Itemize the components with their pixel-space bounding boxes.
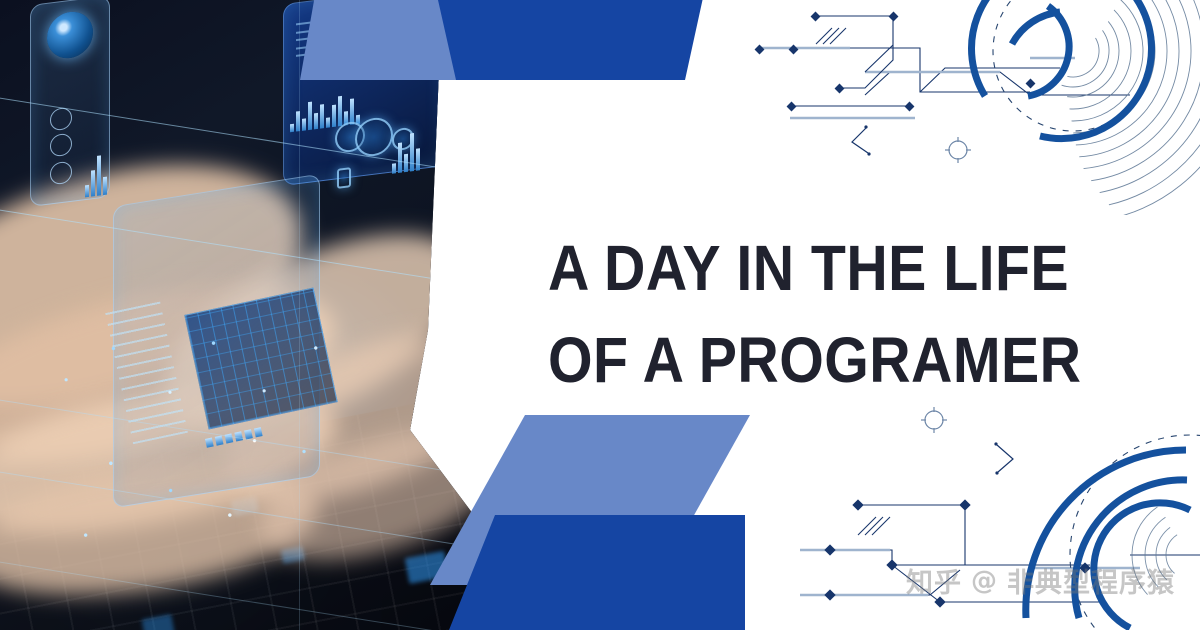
watermark-handle: 非典型程序猿	[1007, 561, 1175, 600]
watermark-at-symbol: @	[971, 566, 998, 596]
diamond-node	[824, 589, 835, 600]
poster-canvas: A DAY IN THE LIFE OF A PROGRAMER	[0, 0, 1200, 630]
diamond-node	[787, 102, 797, 112]
concentric-rings	[1108, 473, 1200, 630]
watermark: 知乎 @ 非典型程序猿	[906, 561, 1175, 600]
hud-indicator	[337, 167, 351, 189]
concentric-rings	[840, 0, 1200, 215]
chevron-left-icon	[852, 128, 868, 153]
hud-bar-chart	[85, 151, 107, 198]
geo-shape-top-dark	[420, 0, 720, 80]
dashed-circle	[1070, 435, 1200, 630]
dashed-circle	[993, 0, 1153, 131]
bold-arc	[972, 0, 1152, 139]
hud-bar-chart	[392, 130, 420, 173]
circuit-trace	[758, 48, 1030, 92]
watermark-platform: 知乎	[906, 561, 962, 600]
target-crosshair-icon	[921, 407, 947, 433]
diamond-node	[835, 84, 845, 94]
circuit-trace	[865, 72, 1030, 95]
bold-arc	[1028, 6, 1069, 96]
decoration-top-right	[730, 0, 1200, 215]
diamond-node	[959, 499, 970, 510]
slash-hatch-icon	[816, 28, 846, 44]
title-line-2: OF A PROGRAMER	[548, 314, 1103, 406]
diamond-node	[889, 12, 899, 22]
circuit-node-group	[755, 12, 1036, 112]
poster-title: A DAY IN THE LIFE OF A PROGRAMER	[548, 222, 1168, 406]
diamond-node	[886, 559, 897, 570]
diamond-node	[755, 45, 765, 55]
title-line-1: A DAY IN THE LIFE	[548, 222, 1103, 314]
chevron-right-icon	[997, 445, 1013, 472]
diamond-node	[905, 102, 915, 112]
diamond-node	[824, 544, 835, 555]
diamond-node	[852, 499, 863, 510]
target-crosshair-icon	[945, 137, 971, 163]
slash-hatch-icon	[858, 517, 890, 535]
diamond-node	[1026, 79, 1036, 89]
diamond-node	[811, 12, 821, 22]
bold-arc	[1012, 12, 1060, 44]
diamond-node	[789, 45, 799, 55]
